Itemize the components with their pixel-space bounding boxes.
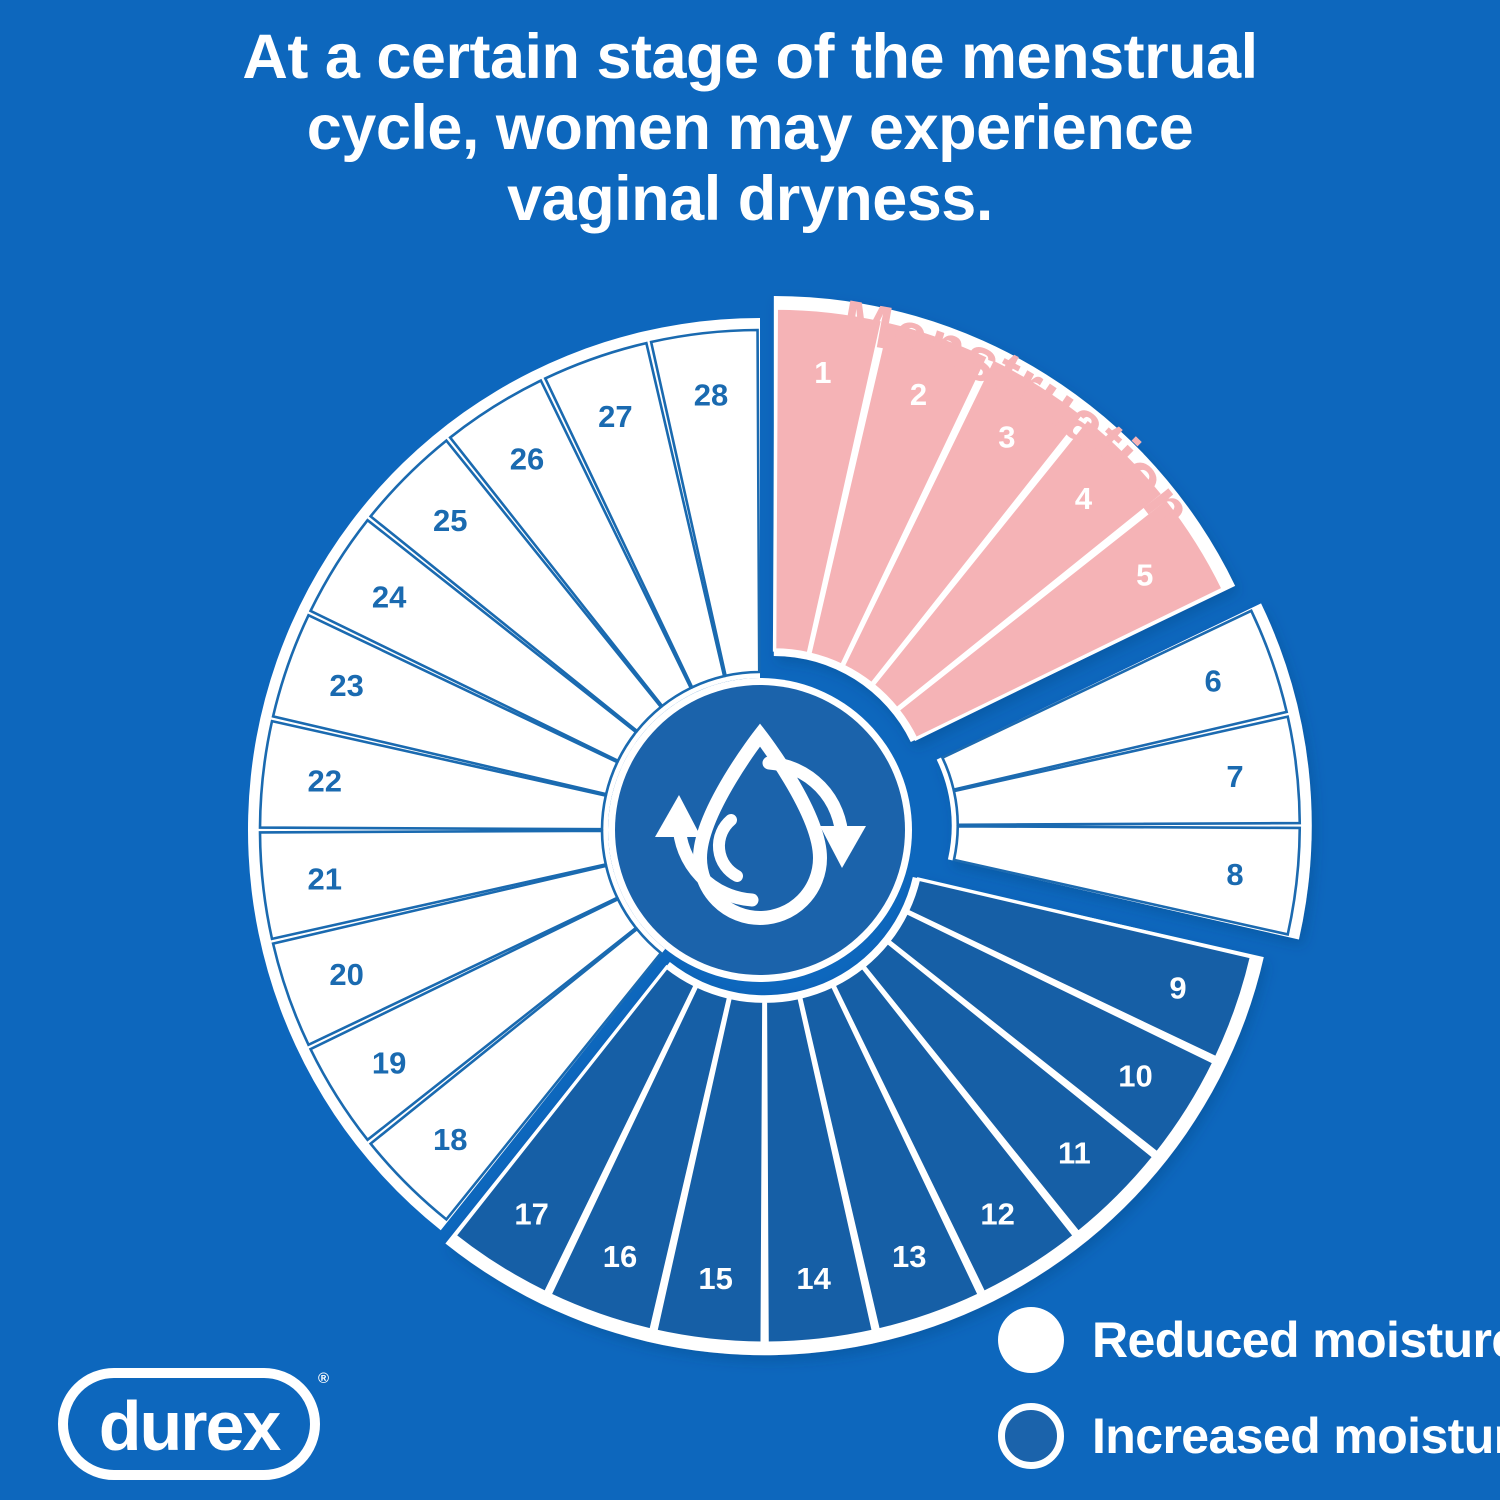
registered-trademark-icon: ®: [318, 1370, 329, 1387]
day-number-27: 27: [598, 399, 632, 434]
legend-label-reduced-moisture: Reduced moisture: [1092, 1311, 1500, 1369]
day-number-26: 26: [510, 442, 544, 477]
day-number-15: 15: [698, 1261, 732, 1296]
infographic-canvas: At a certain stage of the menstrual cycl…: [0, 0, 1500, 1500]
day-number-21: 21: [308, 862, 342, 897]
legend-item-increased-moisture[interactable]: Increased moisture: [998, 1388, 1500, 1484]
day-number-12: 12: [980, 1197, 1014, 1232]
day-number-16: 16: [603, 1239, 637, 1274]
legend-swatch-increased-moisture: [998, 1403, 1064, 1469]
durex-logo[interactable]: durex ®: [58, 1368, 320, 1480]
day-number-10: 10: [1118, 1059, 1152, 1094]
legend: Reduced moisture Increased moisture: [998, 1292, 1500, 1484]
day-number-8: 8: [1226, 857, 1243, 892]
day-number-9: 9: [1169, 970, 1186, 1005]
day-number-1: 1: [814, 355, 831, 390]
logo-wordmark: durex: [99, 1387, 282, 1465]
day-number-6: 6: [1205, 663, 1222, 698]
day-number-19: 19: [372, 1046, 406, 1081]
day-number-28: 28: [694, 377, 728, 412]
legend-swatch-reduced-moisture: [998, 1307, 1064, 1373]
legend-item-reduced-moisture[interactable]: Reduced moisture: [998, 1292, 1500, 1388]
day-number-24: 24: [372, 579, 407, 614]
day-number-14: 14: [796, 1261, 831, 1296]
day-number-2: 2: [910, 377, 927, 412]
durex-logo-mark: durex: [58, 1368, 320, 1480]
day-number-4: 4: [1075, 481, 1093, 516]
day-number-3: 3: [998, 420, 1015, 455]
day-number-11: 11: [1058, 1135, 1091, 1170]
legend-label-increased-moisture: Increased moisture: [1092, 1407, 1500, 1465]
day-number-7: 7: [1226, 759, 1243, 794]
day-number-13: 13: [892, 1239, 926, 1274]
day-number-20: 20: [329, 957, 363, 992]
day-number-23: 23: [329, 668, 363, 703]
day-number-18: 18: [433, 1122, 467, 1157]
menstrual-cycle-wheel: 1234567891011121314151617181920212223242…: [0, 0, 1500, 1500]
day-number-22: 22: [308, 763, 342, 798]
day-number-17: 17: [514, 1197, 548, 1232]
day-number-25: 25: [433, 503, 467, 538]
center-hub: [608, 678, 912, 982]
day-number-5: 5: [1136, 557, 1153, 592]
